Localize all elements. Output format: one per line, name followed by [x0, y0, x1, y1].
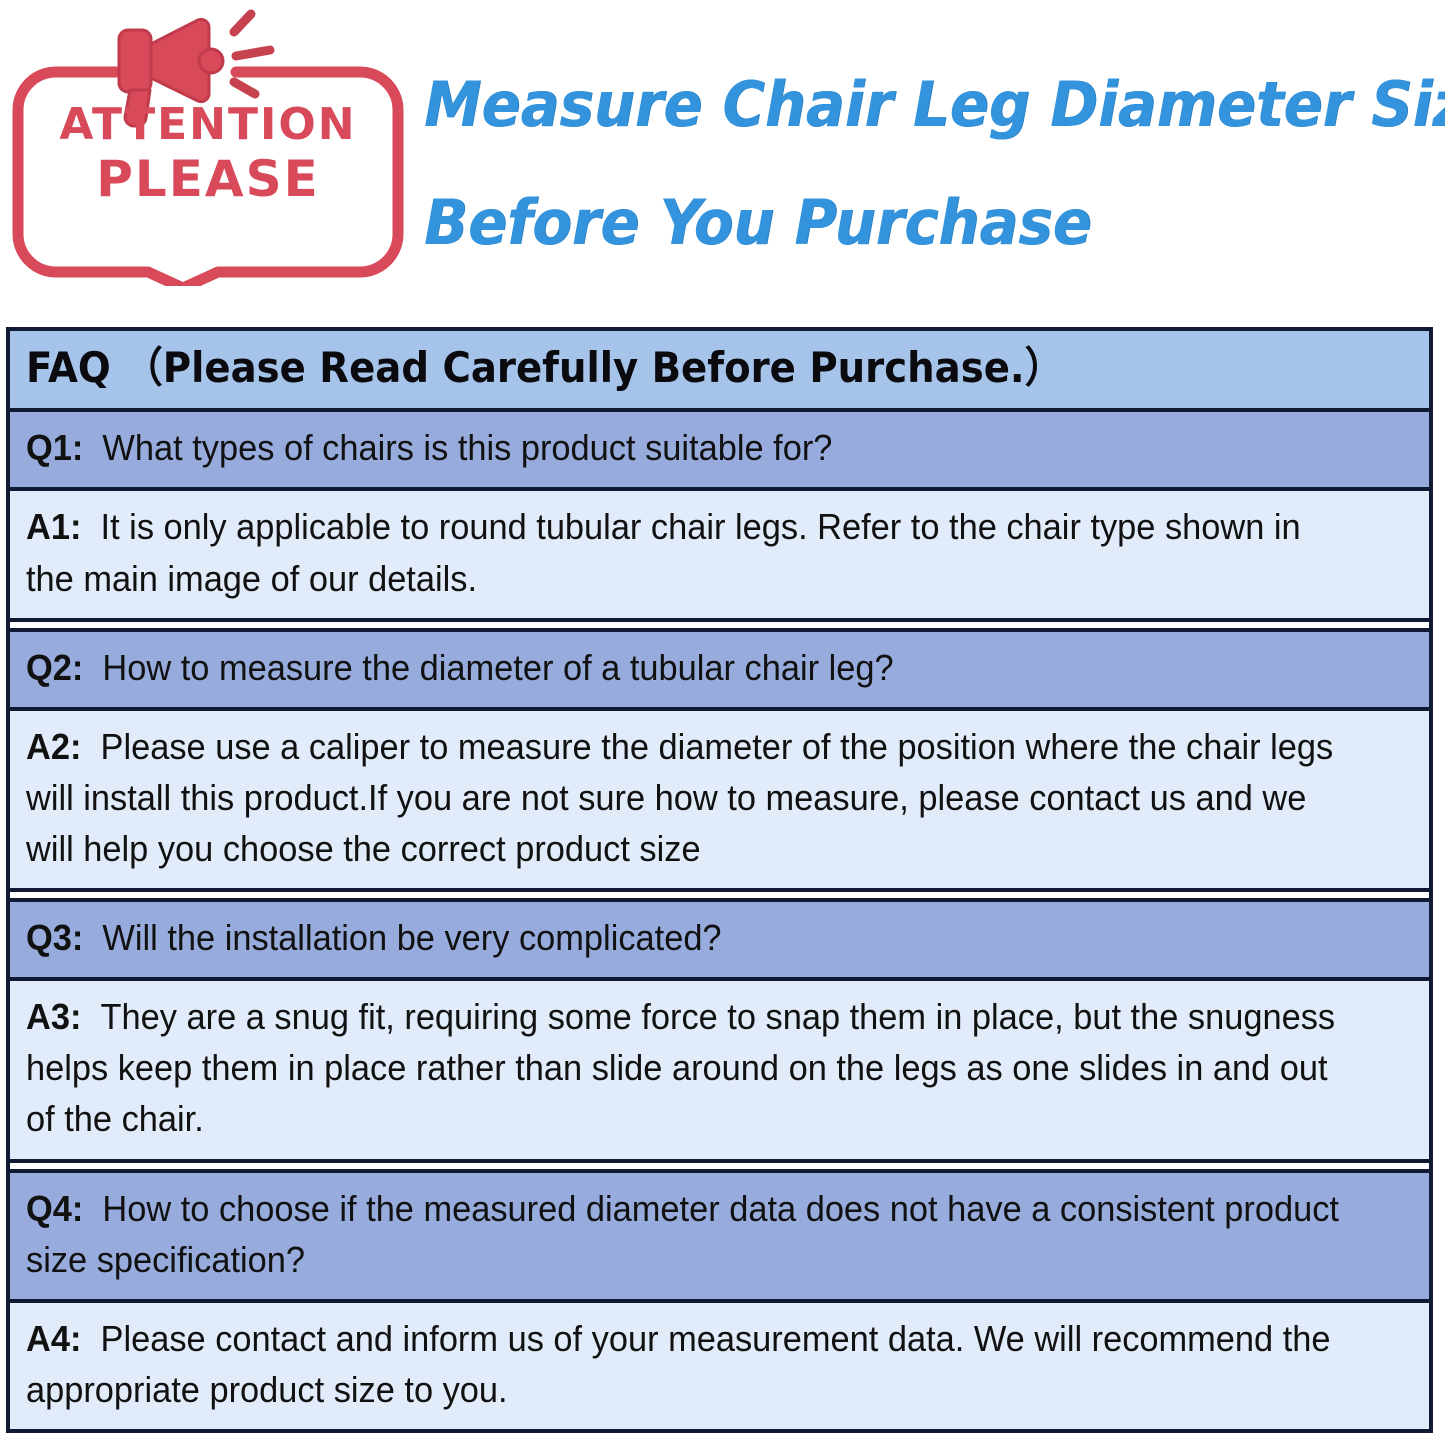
faq-answer-body-3: They are a snug fit, requiring some forc… [26, 996, 1335, 1139]
faq-question-body-1: What types of chairs is this product sui… [102, 427, 832, 468]
faq-question-body-4: How to choose if the measured diameter d… [26, 1188, 1339, 1280]
faq-question-text-3: Q3:Will the installation be very complic… [26, 912, 1351, 963]
faq-answer-row-2: A2:Please use a caliper to measure the d… [10, 711, 1429, 888]
faq-answer-text-2: A2:Please use a caliper to measure the d… [26, 721, 1351, 874]
faq-answer-text-1: A1:It is only applicable to round tubula… [26, 501, 1351, 603]
faq-answer-text-3: A3:They are a snug fit, requiring some f… [26, 991, 1351, 1144]
faq-answer-row-3: A3:They are a snug fit, requiring some f… [10, 981, 1429, 1158]
faq-question-row-3[interactable]: Q3:Will the installation be very complic… [10, 902, 1429, 981]
faq-question-label-2: Q2: [26, 647, 102, 688]
faq-heading-row: FAQ （Please Read Carefully Before Purcha… [10, 331, 1429, 412]
faq-section-spacer-3 [10, 1159, 1429, 1173]
page-title-line-2: Before You Purchase [424, 164, 1368, 282]
faq-question-text-2: Q2:How to measure the diameter of a tubu… [26, 642, 1351, 693]
page-title: Measure Chair Leg Diameter Size Before Y… [424, 46, 1439, 282]
faq-answer-label-2: A2: [26, 726, 101, 767]
header-banner: ATTENTION PLEASE Measure Chair Leg Diame… [0, 0, 1445, 300]
attention-badge: ATTENTION PLEASE [8, 6, 408, 286]
faq-heading-text: FAQ （Please Read Carefully Before Purcha… [26, 345, 1302, 390]
faq-section-spacer-1 [10, 618, 1429, 632]
faq-question-label-1: Q1: [26, 427, 102, 468]
faq-answer-label-4: A4: [26, 1318, 101, 1359]
faq-answer-text-4: A4:Please contact and inform us of your … [26, 1313, 1351, 1415]
page-title-line-1: Measure Chair Leg Diameter Size [424, 46, 1368, 164]
faq-question-label-4: Q4: [26, 1188, 102, 1229]
faq-question-body-3: Will the installation be very complicate… [102, 917, 721, 958]
faq-question-text-1: Q1:What types of chairs is this product … [26, 422, 1351, 473]
faq-answer-body-4: Please contact and inform us of your mea… [26, 1318, 1331, 1410]
faq-question-row-4[interactable]: Q4:How to choose if the measured diamete… [10, 1173, 1429, 1303]
faq-answer-label-1: A1: [26, 506, 101, 547]
faq-question-body-2: How to measure the diameter of a tubular… [102, 647, 893, 688]
faq-section-spacer-2 [10, 888, 1429, 902]
faq-answer-body-2: Please use a caliper to measure the diam… [26, 726, 1333, 869]
faq-question-label-3: Q3: [26, 917, 102, 958]
faq-question-row-2[interactable]: Q2:How to measure the diameter of a tubu… [10, 632, 1429, 711]
faq-question-row-1[interactable]: Q1:What types of chairs is this product … [10, 412, 1429, 491]
faq-answer-row-1: A1:It is only applicable to round tubula… [10, 491, 1429, 617]
faq-question-text-4: Q4:How to choose if the measured diamete… [26, 1183, 1351, 1285]
faq-answer-label-3: A3: [26, 996, 101, 1037]
faq-answer-body-1: It is only applicable to round tubular c… [26, 506, 1301, 598]
faq-table: FAQ （Please Read Carefully Before Purcha… [6, 327, 1433, 1433]
faq-answer-row-4: A4:Please contact and inform us of your … [10, 1303, 1429, 1429]
attention-badge-frame [8, 6, 408, 286]
